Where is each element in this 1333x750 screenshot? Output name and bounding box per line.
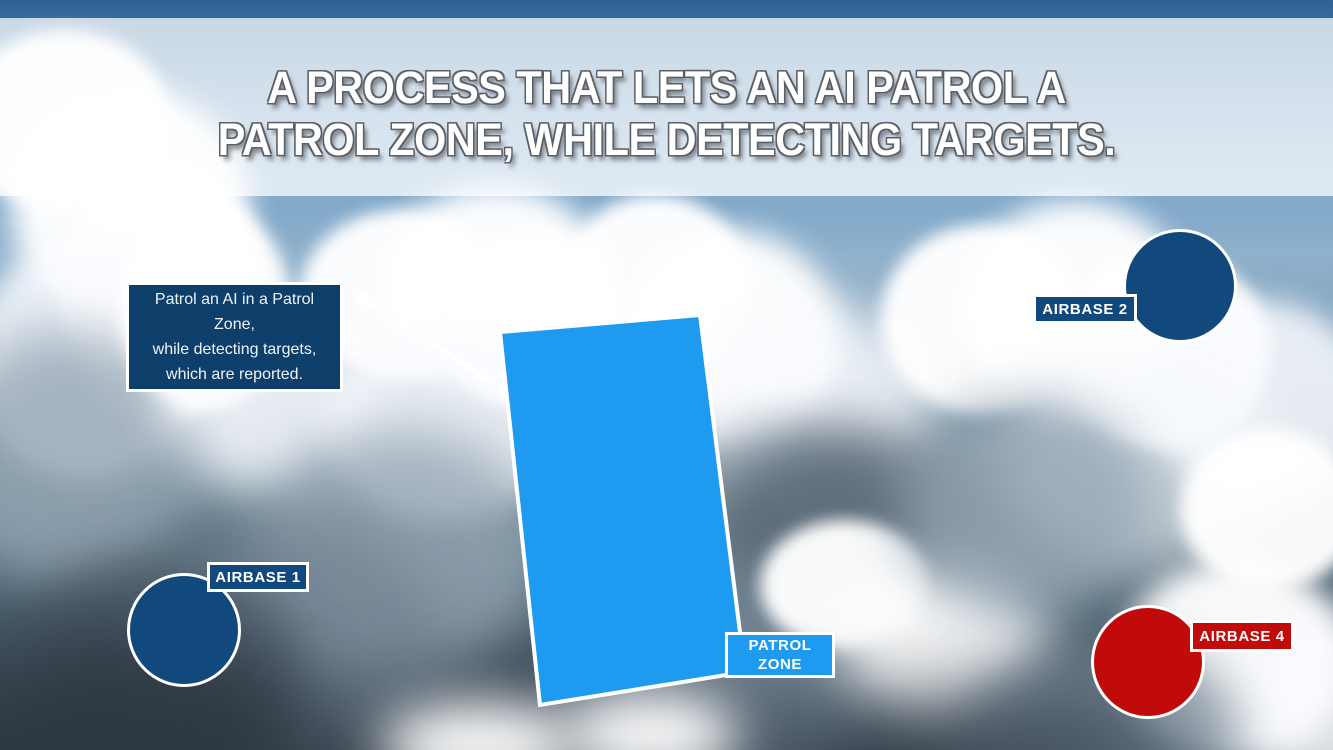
airbase-2-label-text: AIRBASE 2 (1042, 301, 1127, 318)
airbase-4-label-text: AIRBASE 4 (1199, 628, 1284, 645)
patrol-zone-label[interactable]: PATROL ZONE (725, 632, 835, 678)
callout-line-2: while detecting targets, (153, 337, 317, 362)
slide-canvas: A PROCESS THAT LETS AN AI PATROL A PATRO… (0, 0, 1333, 750)
airbase-2-label[interactable]: AIRBASE 2 (1033, 294, 1137, 324)
airbase-2-circle[interactable] (1123, 229, 1237, 343)
airbase-4-circle[interactable] (1091, 605, 1205, 719)
description-callout[interactable]: Patrol an AI in a Patrol Zone, while det… (126, 282, 343, 392)
callout-line-3: which are reported. (166, 362, 303, 387)
airbase-1-label[interactable]: AIRBASE 1 (207, 562, 309, 592)
airbase-4-label[interactable]: AIRBASE 4 (1190, 620, 1294, 652)
patrol-zone-label-line-2: ZONE (758, 655, 802, 674)
airbase-1-label-text: AIRBASE 1 (215, 569, 300, 586)
patrol-zone-label-line-1: PATROL (748, 636, 811, 655)
callout-line-1: Patrol an AI in a Patrol Zone, (139, 287, 330, 337)
